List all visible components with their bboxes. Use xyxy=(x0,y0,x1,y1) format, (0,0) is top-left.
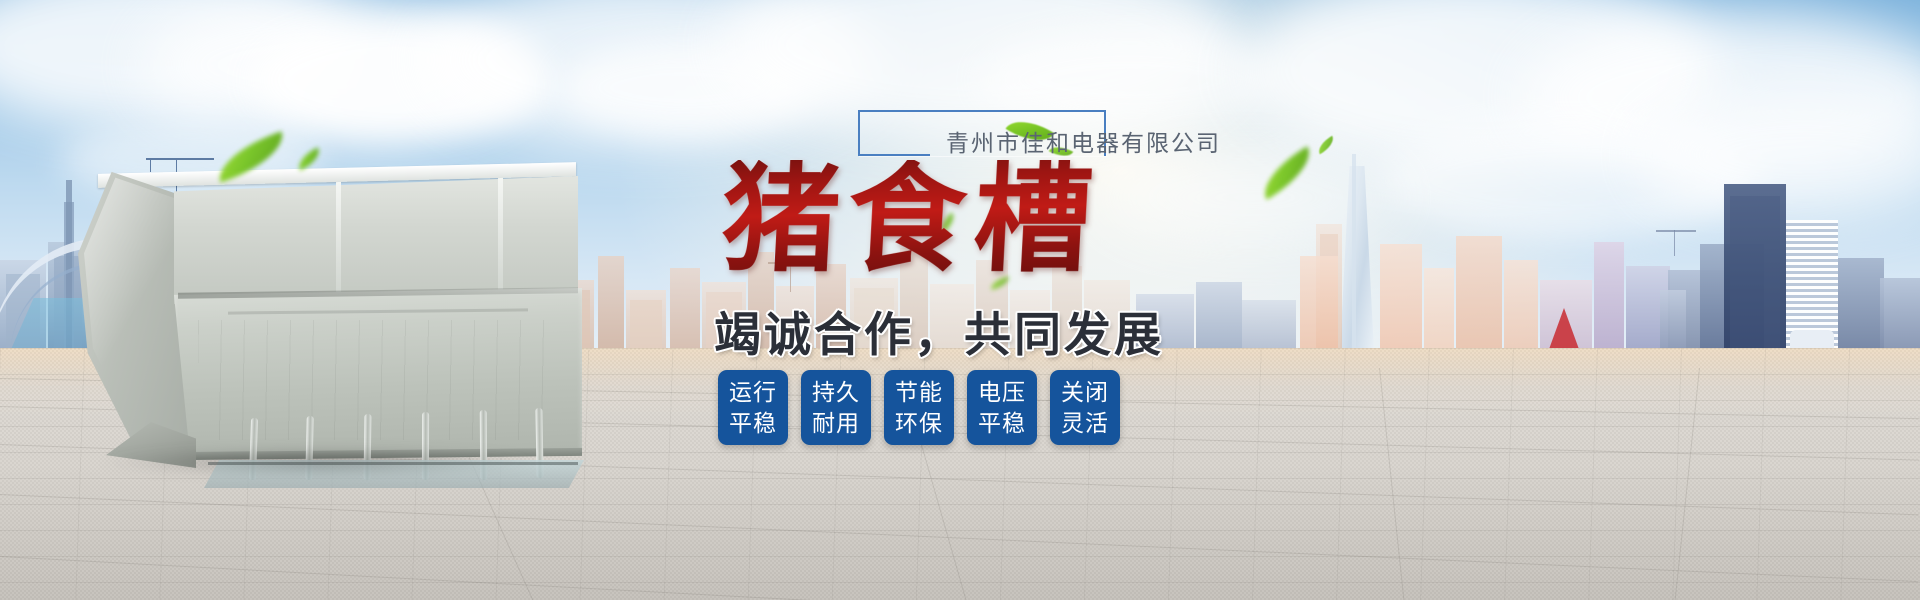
badge-line-1: 电压 xyxy=(978,377,1026,407)
headline-block: 青州市佳和电器有限公司 猪食槽 竭诚合作，共同发展 运行 平稳 持久 耐用 节能… xyxy=(700,100,1420,570)
badge-line-2: 灵活 xyxy=(1061,408,1109,438)
badge-line-1: 运行 xyxy=(729,377,777,407)
promo-banner: 青州市佳和电器有限公司 猪食槽 竭诚合作，共同发展 运行 平稳 持久 耐用 节能… xyxy=(0,0,1920,600)
badge-line-1: 节能 xyxy=(895,377,943,407)
badge-line-1: 持久 xyxy=(812,377,860,407)
subtitle-slogan: 竭诚合作，共同发展 xyxy=(714,296,1164,365)
feature-badge[interactable]: 节能 环保 xyxy=(884,370,954,445)
feature-badge[interactable]: 运行 平稳 xyxy=(718,370,788,445)
badge-line-2: 环保 xyxy=(895,408,943,438)
badge-line-2: 平稳 xyxy=(729,408,777,438)
badge-line-2: 耐用 xyxy=(812,408,860,438)
product-shadow xyxy=(100,448,540,476)
page-title: 猪食槽 xyxy=(719,160,1103,278)
feature-badge-row: 运行 平稳 持久 耐用 节能 环保 电压 平稳 关闭 灵活 xyxy=(718,370,1120,445)
badge-line-2: 平稳 xyxy=(978,408,1026,438)
product-image-pig-feeding-trough xyxy=(78,160,598,460)
feature-badge[interactable]: 持久 耐用 xyxy=(801,370,871,445)
feature-badge[interactable]: 关闭 灵活 xyxy=(1050,370,1120,445)
badge-line-1: 关闭 xyxy=(1061,377,1109,407)
feature-badge[interactable]: 电压 平稳 xyxy=(967,370,1037,445)
